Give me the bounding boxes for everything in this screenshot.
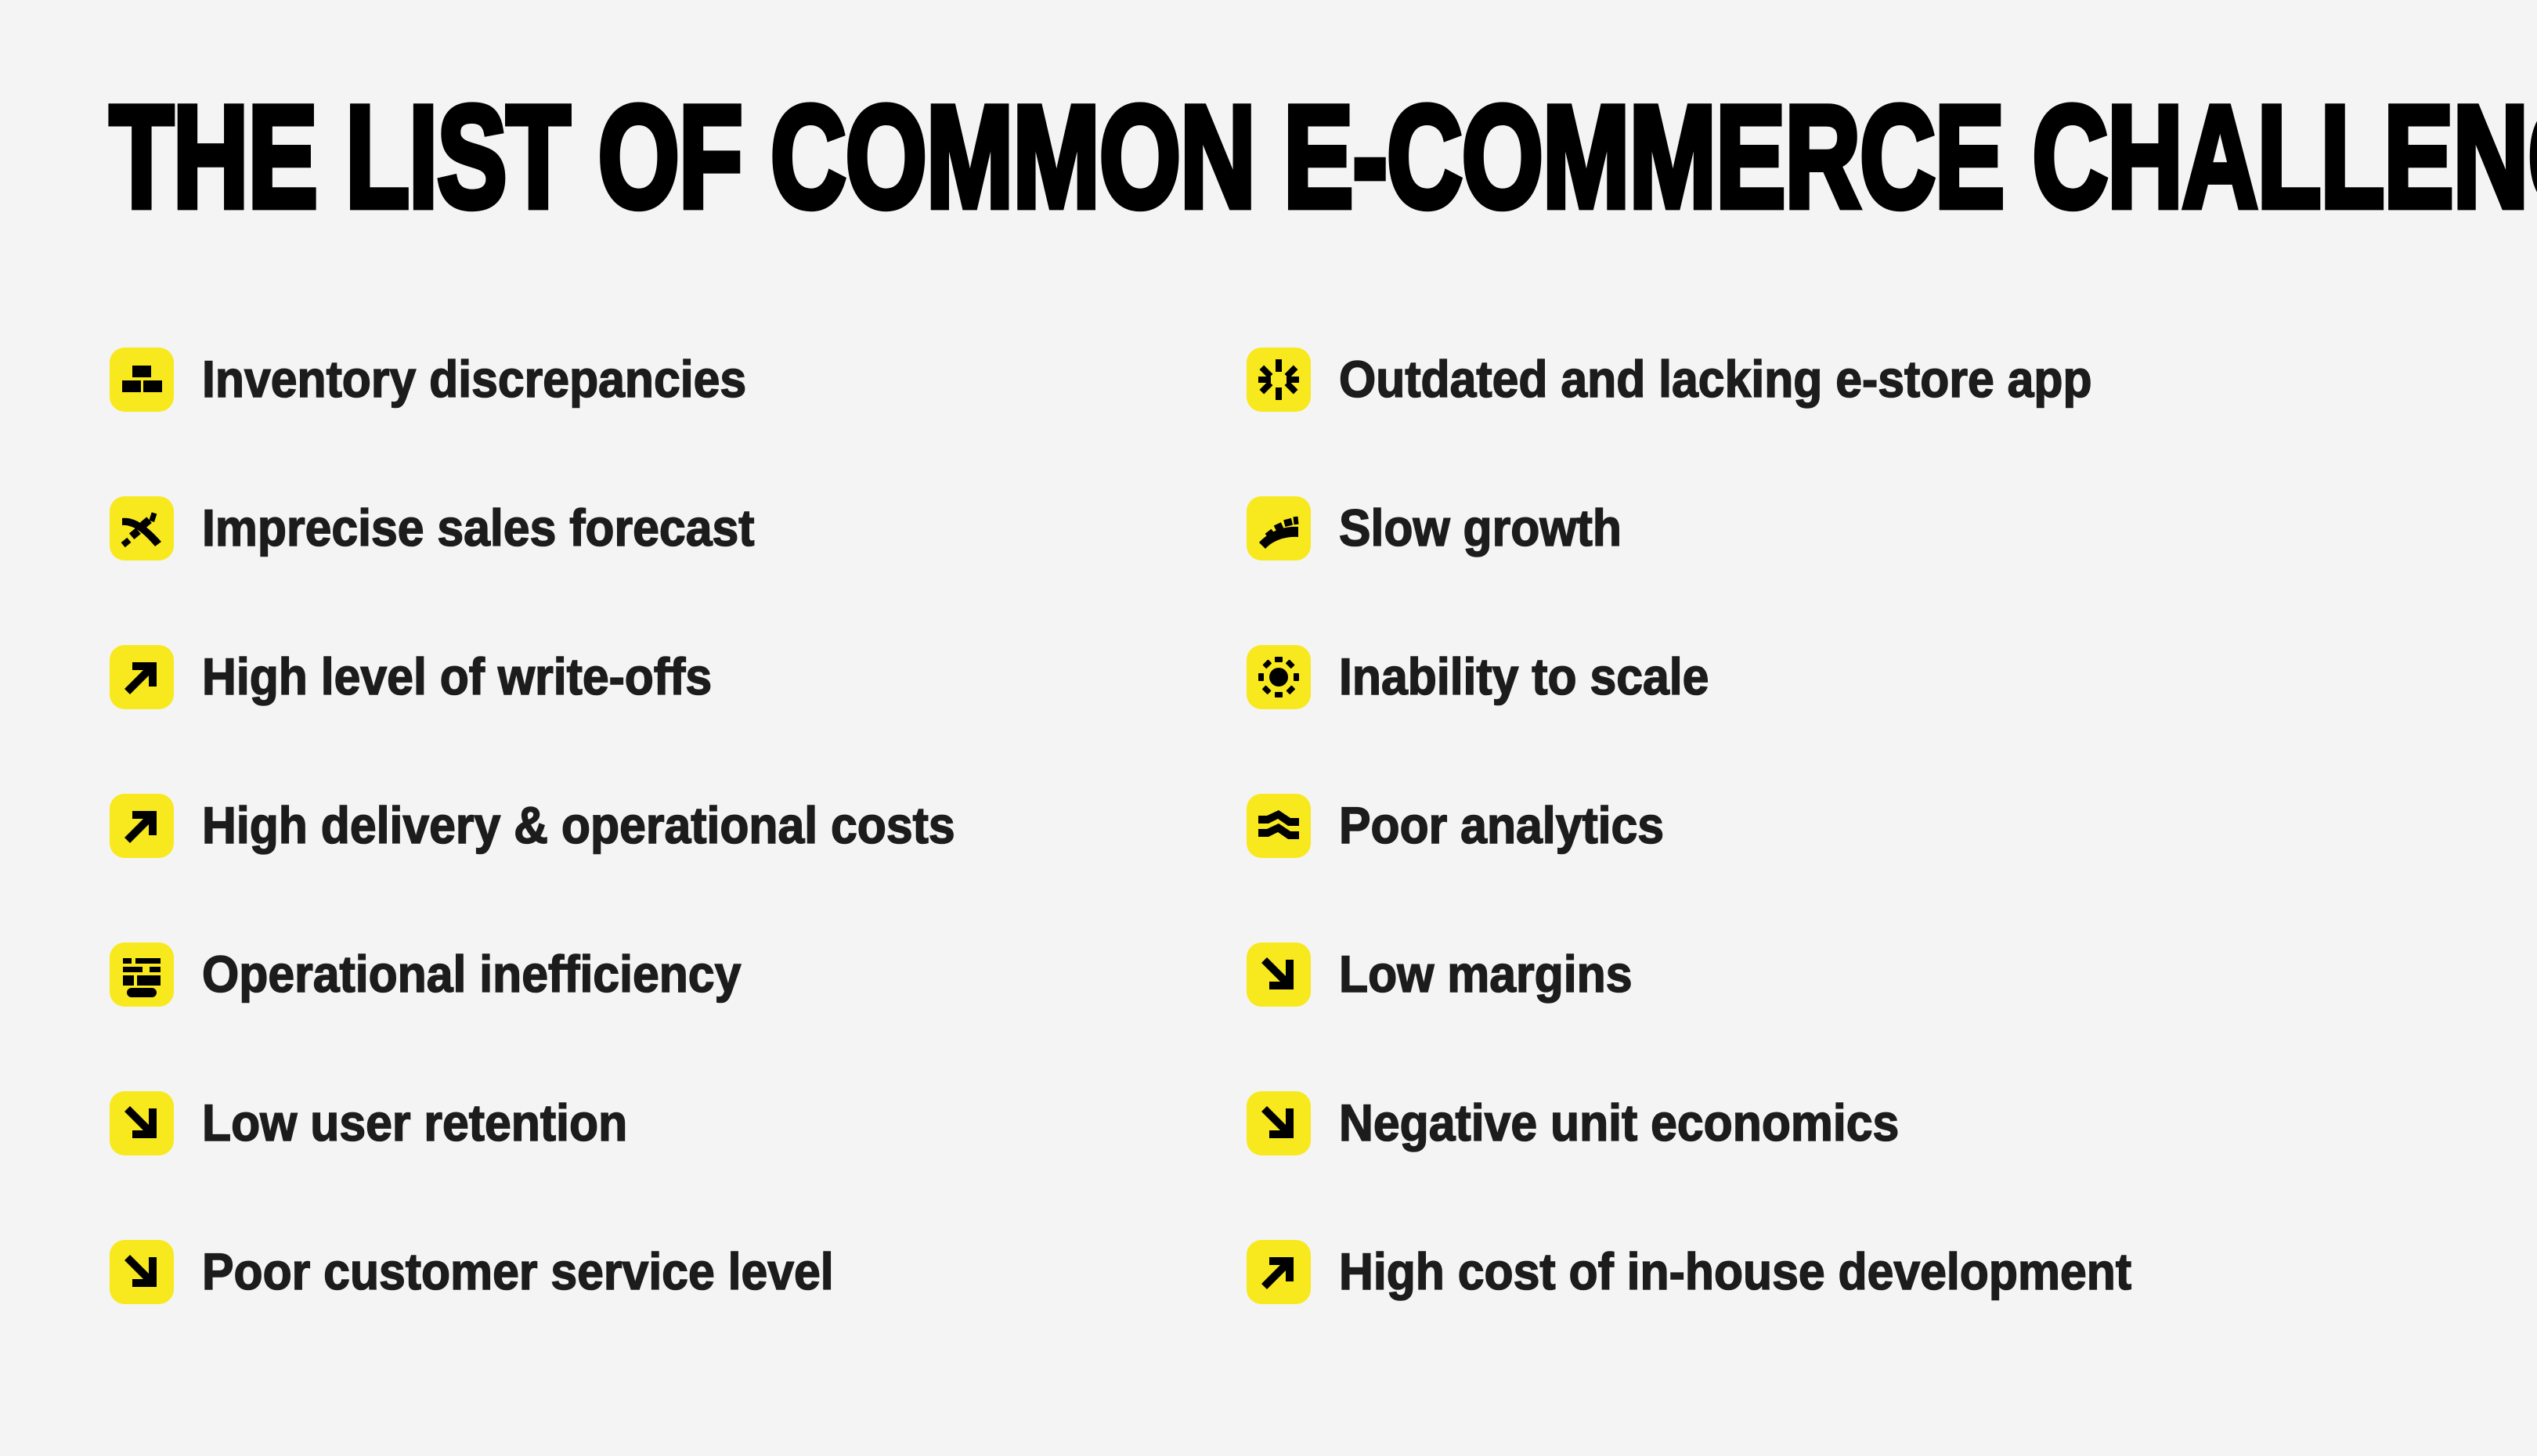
list-item[interactable]: Imprecise sales forecast	[110, 493, 1222, 642]
list-item-label: Negative unit economics	[1339, 1088, 1899, 1157]
arrow-up-right-icon	[110, 794, 174, 858]
challenges-column-right: Outdated and lacking e-store app Slow gr…	[1247, 344, 2421, 1386]
list-item[interactable]: High level of write-offs	[110, 642, 1222, 791]
list-item[interactable]: Low margins	[1247, 939, 2421, 1088]
sunburst-spinner-icon	[1247, 348, 1311, 412]
list-item-label: Slow growth	[1339, 493, 1622, 562]
arrow-up-right-icon	[1247, 1240, 1311, 1304]
list-item[interactable]: Inventory discrepancies	[110, 344, 1222, 493]
slide-canvas: THE LIST OF COMMON E-COMMERCE CHALLENGES…	[0, 0, 2537, 1456]
list-item-label: Operational inefficiency	[202, 939, 741, 1008]
list-item[interactable]: Poor customer service level	[110, 1237, 1222, 1386]
list-item-label: Outdated and lacking e-store app	[1339, 344, 2092, 413]
list-item-label: Poor analytics	[1339, 791, 1664, 860]
list-item-label: High cost of in-house development	[1339, 1237, 2131, 1306]
list-item[interactable]: Negative unit economics	[1247, 1088, 2421, 1237]
list-item[interactable]: Poor analytics	[1247, 791, 2421, 939]
list-item[interactable]: Operational inefficiency	[110, 939, 1222, 1088]
list-item[interactable]: Slow growth	[1247, 493, 2421, 642]
list-item-label: High delivery & operational costs	[202, 791, 955, 860]
arrow-down-right-icon	[1247, 1091, 1311, 1155]
list-item-label: Imprecise sales forecast	[202, 493, 754, 562]
radial-dot-icon	[1247, 645, 1311, 709]
arrow-down-right-icon	[1247, 942, 1311, 1007]
list-item-label: Poor customer service level	[202, 1237, 834, 1306]
list-item[interactable]: High delivery & operational costs	[110, 791, 1222, 939]
list-item[interactable]: Outdated and lacking e-store app	[1247, 344, 2421, 493]
challenges-column-left: Inventory discrepancies Imprecise sales …	[110, 344, 1222, 1386]
list-item-label: High level of write-offs	[202, 642, 712, 711]
arrow-down-right-icon	[110, 1240, 174, 1304]
dashed-arc-icon	[1247, 496, 1311, 560]
list-item-label: Inability to scale	[1339, 642, 1709, 711]
list-item[interactable]: Inability to scale	[1247, 642, 2421, 791]
list-item-label: Inventory discrepancies	[202, 344, 746, 413]
page-title: THE LIST OF COMMON E-COMMERCE CHALLENGES	[110, 85, 2149, 229]
list-item[interactable]: High cost of in-house development	[1247, 1237, 2421, 1386]
list-item-label: Low margins	[1339, 939, 1632, 1008]
arrow-down-right-icon	[110, 1091, 174, 1155]
list-item-label: Low user retention	[202, 1088, 627, 1157]
blocks-stack-icon	[110, 348, 174, 412]
arrow-up-right-icon	[110, 645, 174, 709]
double-chevron-icon	[1247, 794, 1311, 858]
list-item[interactable]: Low user retention	[110, 1088, 1222, 1237]
list-layout-icon	[110, 942, 174, 1007]
forecast-curve-icon	[110, 496, 174, 560]
